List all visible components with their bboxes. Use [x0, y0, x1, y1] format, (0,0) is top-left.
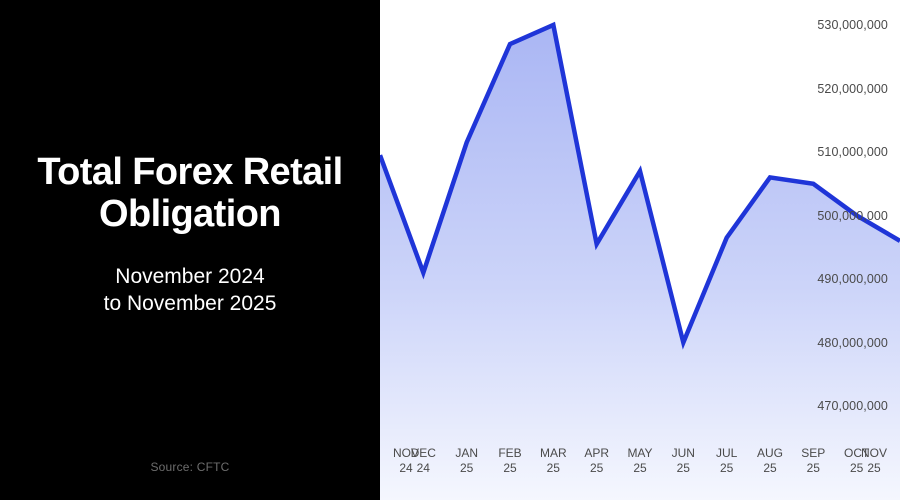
- x-tick-month: MAY: [627, 446, 652, 461]
- x-tick-month: AUG: [757, 446, 783, 461]
- x-axis-tick-label: JAN25: [455, 446, 478, 475]
- x-axis-tick-label: MAR25: [540, 446, 567, 475]
- date-range-subtitle: November 2024 to November 2025: [104, 264, 277, 318]
- x-tick-month: MAR: [540, 446, 567, 461]
- x-tick-month: SEP: [801, 446, 825, 461]
- x-axis-tick-label: JUL25: [716, 446, 737, 475]
- x-tick-year: 25: [861, 461, 887, 476]
- title-panel: Total Forex Retail Obligation November 2…: [0, 0, 380, 500]
- x-tick-month: JAN: [455, 446, 478, 461]
- x-tick-month: JUL: [716, 446, 737, 461]
- x-tick-month: NOV: [861, 446, 887, 461]
- x-tick-month: JUN: [672, 446, 695, 461]
- x-axis-tick-label: DEC24: [411, 446, 436, 475]
- x-tick-year: 25: [672, 461, 695, 476]
- x-axis-tick-label: FEB25: [498, 446, 521, 475]
- x-tick-year: 25: [801, 461, 825, 476]
- x-tick-year: 25: [455, 461, 478, 476]
- y-axis-tick-label: 530,000,000: [817, 18, 888, 32]
- x-tick-year: 25: [540, 461, 567, 476]
- x-tick-year: 25: [757, 461, 783, 476]
- x-axis-tick-label: SEP25: [801, 446, 825, 475]
- x-tick-month: DEC: [411, 446, 436, 461]
- y-axis-tick-label: 510,000,000: [817, 145, 888, 159]
- x-tick-year: 24: [411, 461, 436, 476]
- x-tick-year: 25: [716, 461, 737, 476]
- x-axis-tick-label: APR25: [584, 446, 609, 475]
- x-axis-tick-label: JUN25: [672, 446, 695, 475]
- x-tick-year: 25: [627, 461, 652, 476]
- y-axis-tick-label: 470,000,000: [817, 399, 888, 413]
- y-axis-tick-label: 520,000,000: [817, 82, 888, 96]
- title-block: Total Forex Retail Obligation November 2…: [18, 151, 362, 318]
- x-axis-tick-label: AUG25: [757, 446, 783, 475]
- infographic-root: Total Forex Retail Obligation November 2…: [0, 0, 900, 500]
- y-axis-tick-label: 500,000,000: [817, 209, 888, 223]
- chart-panel: 530,000,000520,000,000510,000,000500,000…: [380, 0, 900, 500]
- y-axis-tick-label: 480,000,000: [817, 336, 888, 350]
- x-axis-tick-label: MAY25: [627, 446, 652, 475]
- x-axis-tick-label: NOV25: [861, 446, 887, 475]
- x-tick-year: 25: [498, 461, 521, 476]
- y-axis-tick-label: 490,000,000: [817, 272, 888, 286]
- page-title: Total Forex Retail Obligation: [37, 151, 342, 236]
- source-attribution: Source: CFTC: [0, 460, 380, 474]
- x-tick-month: APR: [584, 446, 609, 461]
- x-axis-tick-labels: NOV24DEC24JAN25FEB25MAR25APR25MAY25JUN25…: [380, 446, 900, 486]
- area-chart: [380, 0, 900, 500]
- x-tick-year: 25: [584, 461, 609, 476]
- x-tick-month: FEB: [498, 446, 521, 461]
